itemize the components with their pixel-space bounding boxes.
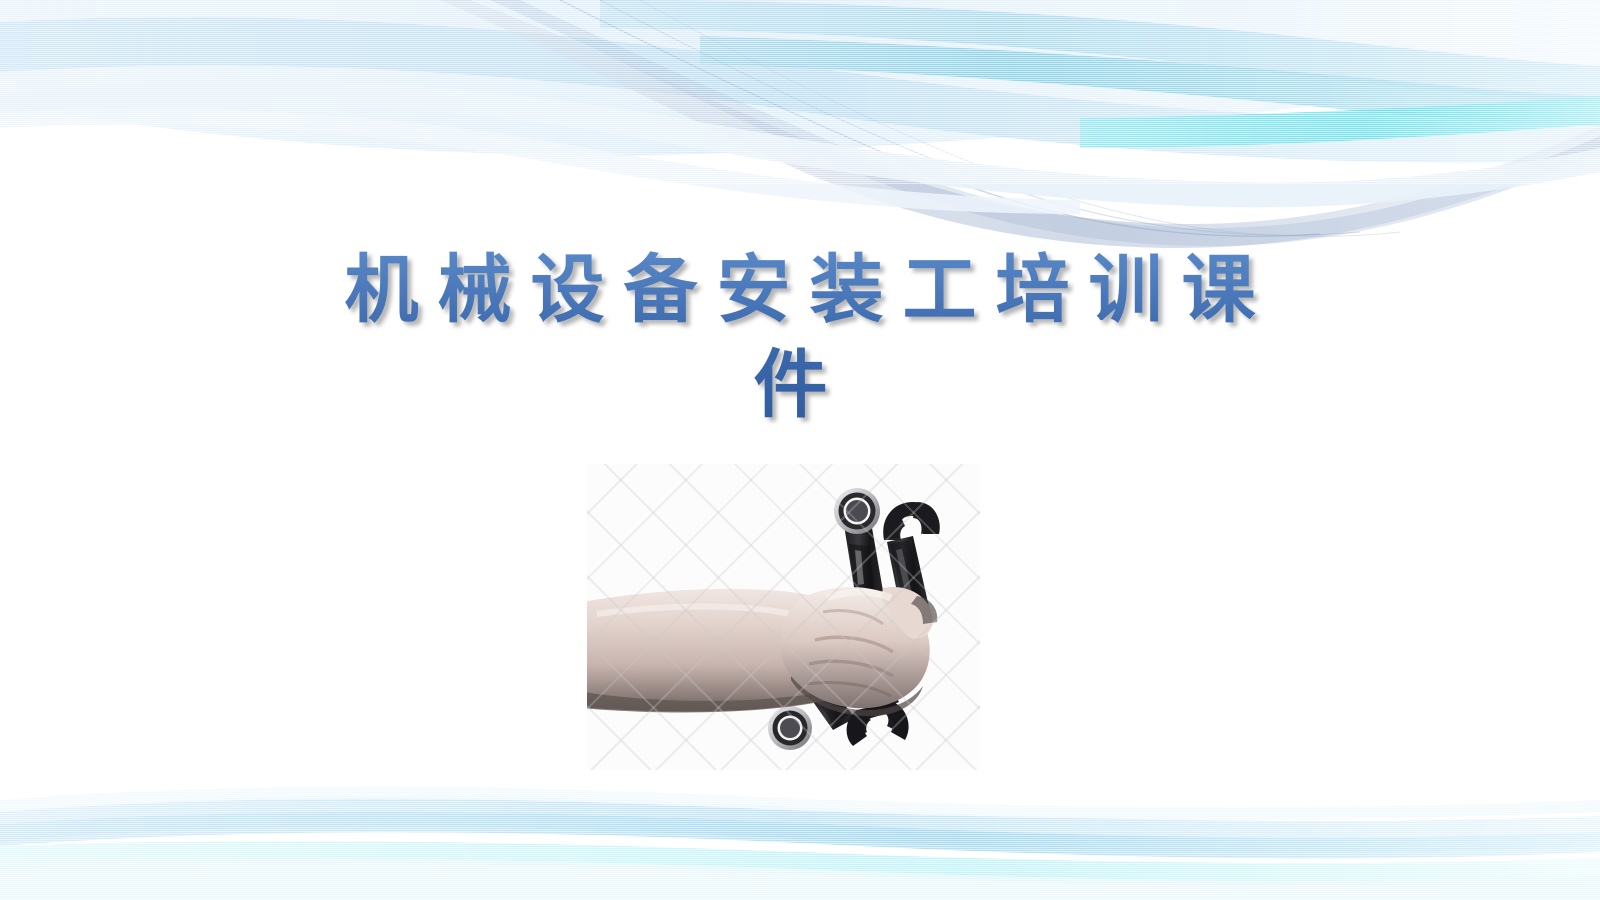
hand-with-wrenches-photo[interactable] [587,464,980,770]
slide-title: 机械设备安装工培训课件 [300,243,1300,432]
slide-title-block: 机械设备安装工培训课件 [0,243,1600,432]
bottom-wave-line-texture [0,770,1600,900]
top-wave-line-texture [0,0,1600,185]
presentation-slide: 机械设备安装工培训课件 [0,0,1600,900]
